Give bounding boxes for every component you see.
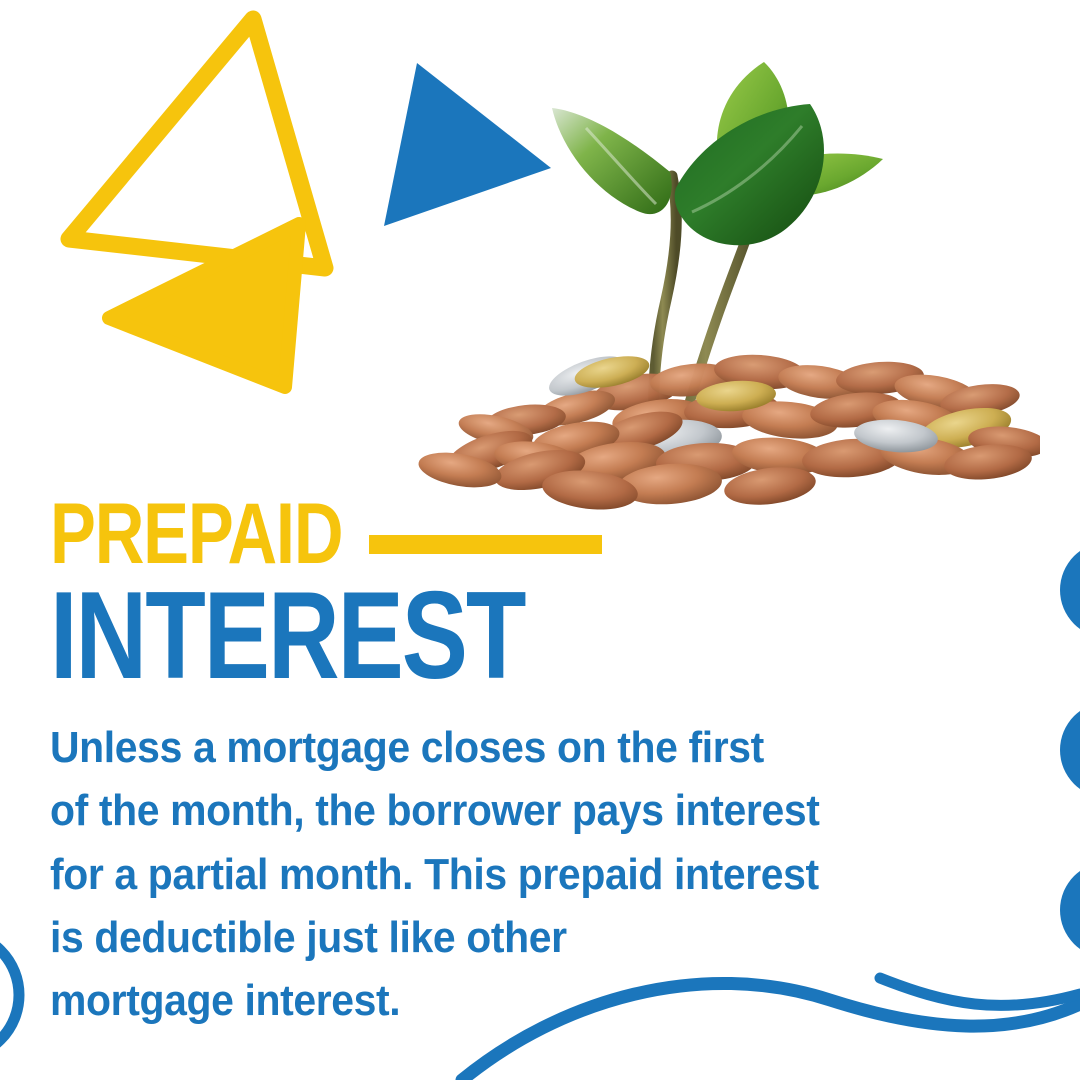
kicker-underline-rule bbox=[369, 535, 602, 554]
blue-filled-triangle bbox=[384, 63, 551, 226]
poster-canvas: PREPAID INTEREST Unless a mortgage close… bbox=[0, 0, 1080, 1080]
bottom-left-ring bbox=[0, 932, 19, 1058]
right-arc-3 bbox=[1060, 862, 1080, 958]
kicker-row: PREPAID bbox=[50, 498, 750, 570]
body-copy: Unless a mortgage closes on the first of… bbox=[50, 716, 971, 1033]
kicker-text: PREPAID bbox=[50, 498, 342, 570]
body-line-3: for a partial month. This prepaid intere… bbox=[50, 843, 971, 906]
headline-block: PREPAID INTEREST bbox=[50, 498, 750, 688]
right-arc-1 bbox=[1060, 542, 1080, 638]
body-line-1: Unless a mortgage closes on the first bbox=[50, 716, 971, 779]
page-title: INTEREST bbox=[50, 584, 610, 688]
body-line-2: of the month, the borrower pays interest bbox=[50, 779, 971, 842]
right-arc-2 bbox=[1060, 702, 1080, 798]
body-line-4: is deductible just like other bbox=[50, 906, 971, 969]
body-line-5: mortgage interest. bbox=[50, 969, 971, 1032]
